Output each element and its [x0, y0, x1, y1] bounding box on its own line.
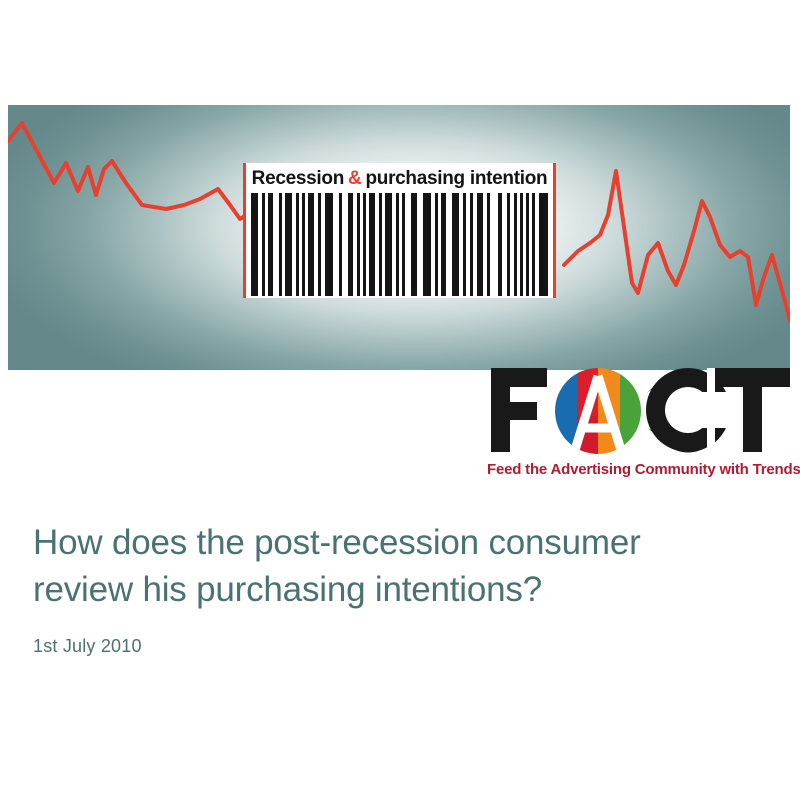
page-date: 1st July 2010 — [33, 636, 763, 657]
title-block: How does the post-recession consumer rev… — [33, 520, 763, 657]
barcode-title: Recession & purchasing intention — [249, 166, 550, 192]
barcode-title-prefix: Recession — [252, 168, 344, 190]
line-chart-series-right — [564, 171, 790, 321]
logo-tagline: Feed the Advertising Community with Tren… — [487, 461, 792, 478]
barcode-rail-right — [553, 163, 556, 298]
barcode-title-ampersand: & — [344, 168, 365, 190]
page-title: How does the post-recession consumer rev… — [33, 520, 763, 614]
fact-logo: Feed the Advertising Community with Tren… — [487, 366, 792, 478]
page-title-line-1: How does the post-recession consumer — [33, 523, 641, 562]
line-chart-series-left — [8, 123, 262, 219]
logo-letter-a-disc — [551, 366, 645, 454]
barcode-bars — [251, 193, 548, 296]
barcode-title-suffix: purchasing intention — [365, 168, 547, 190]
fact-logo-mark — [487, 366, 792, 454]
page-title-line-2: review his purchasing intentions? — [33, 570, 542, 609]
barcode-graphic: Recession & purchasing intention — [243, 163, 556, 298]
barcode-rail-left — [243, 163, 246, 298]
logo-letter-f — [491, 368, 547, 452]
